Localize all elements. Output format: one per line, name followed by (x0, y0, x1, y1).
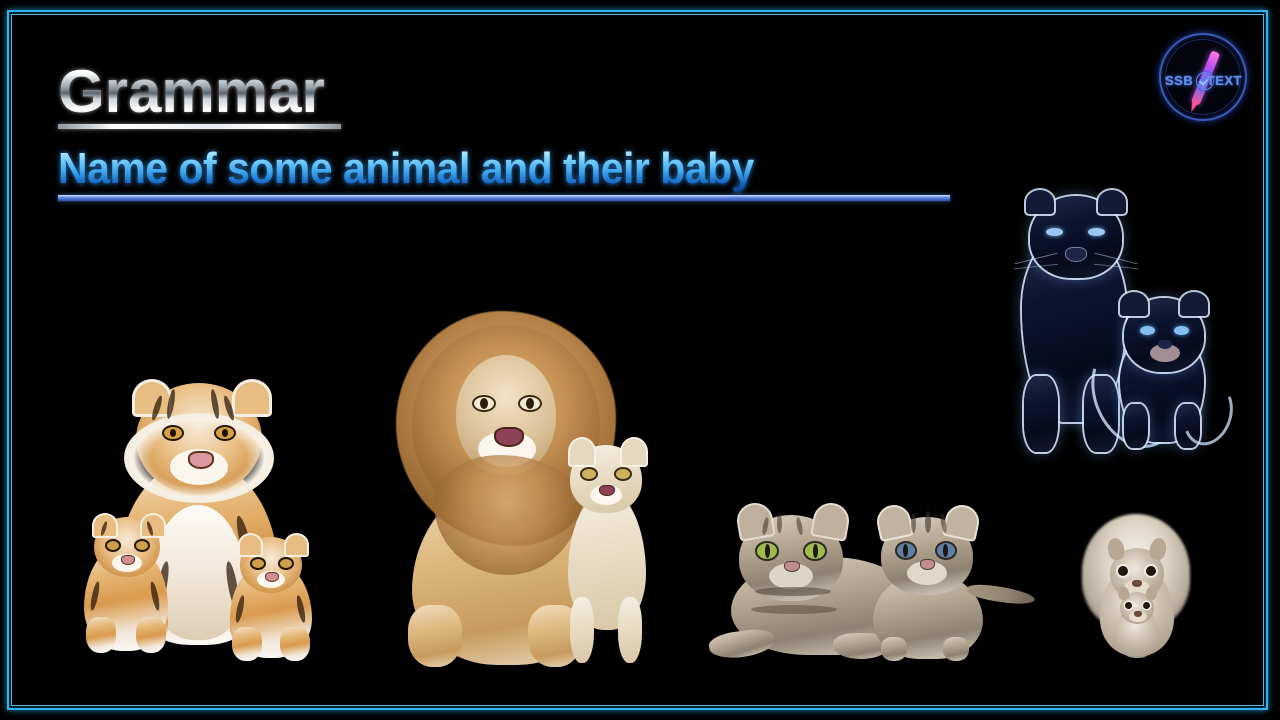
logo-left-label: SSB (1165, 73, 1193, 88)
title-text: Grammar (58, 62, 325, 122)
squirrel-family-image: squirrel (1066, 512, 1204, 664)
presentation-slide: Grammar Name of some animal and their ba… (0, 0, 1280, 720)
logo-right-label: TEXT (1207, 73, 1242, 88)
ssb-text-logo[interactable]: SSB TEXT (1152, 26, 1254, 128)
lion-family-image: lion (382, 305, 662, 670)
page-title: Grammar (58, 62, 341, 129)
subtitle-text: Name of some animal and their baby (58, 146, 888, 192)
cat-family-image: cat (705, 495, 1035, 670)
page-subtitle: Name of some animal and their baby (58, 146, 950, 201)
panther-family-image: panther (1008, 186, 1228, 466)
subtitle-underline (58, 195, 950, 201)
tiger-family-image: tiger (80, 365, 320, 665)
